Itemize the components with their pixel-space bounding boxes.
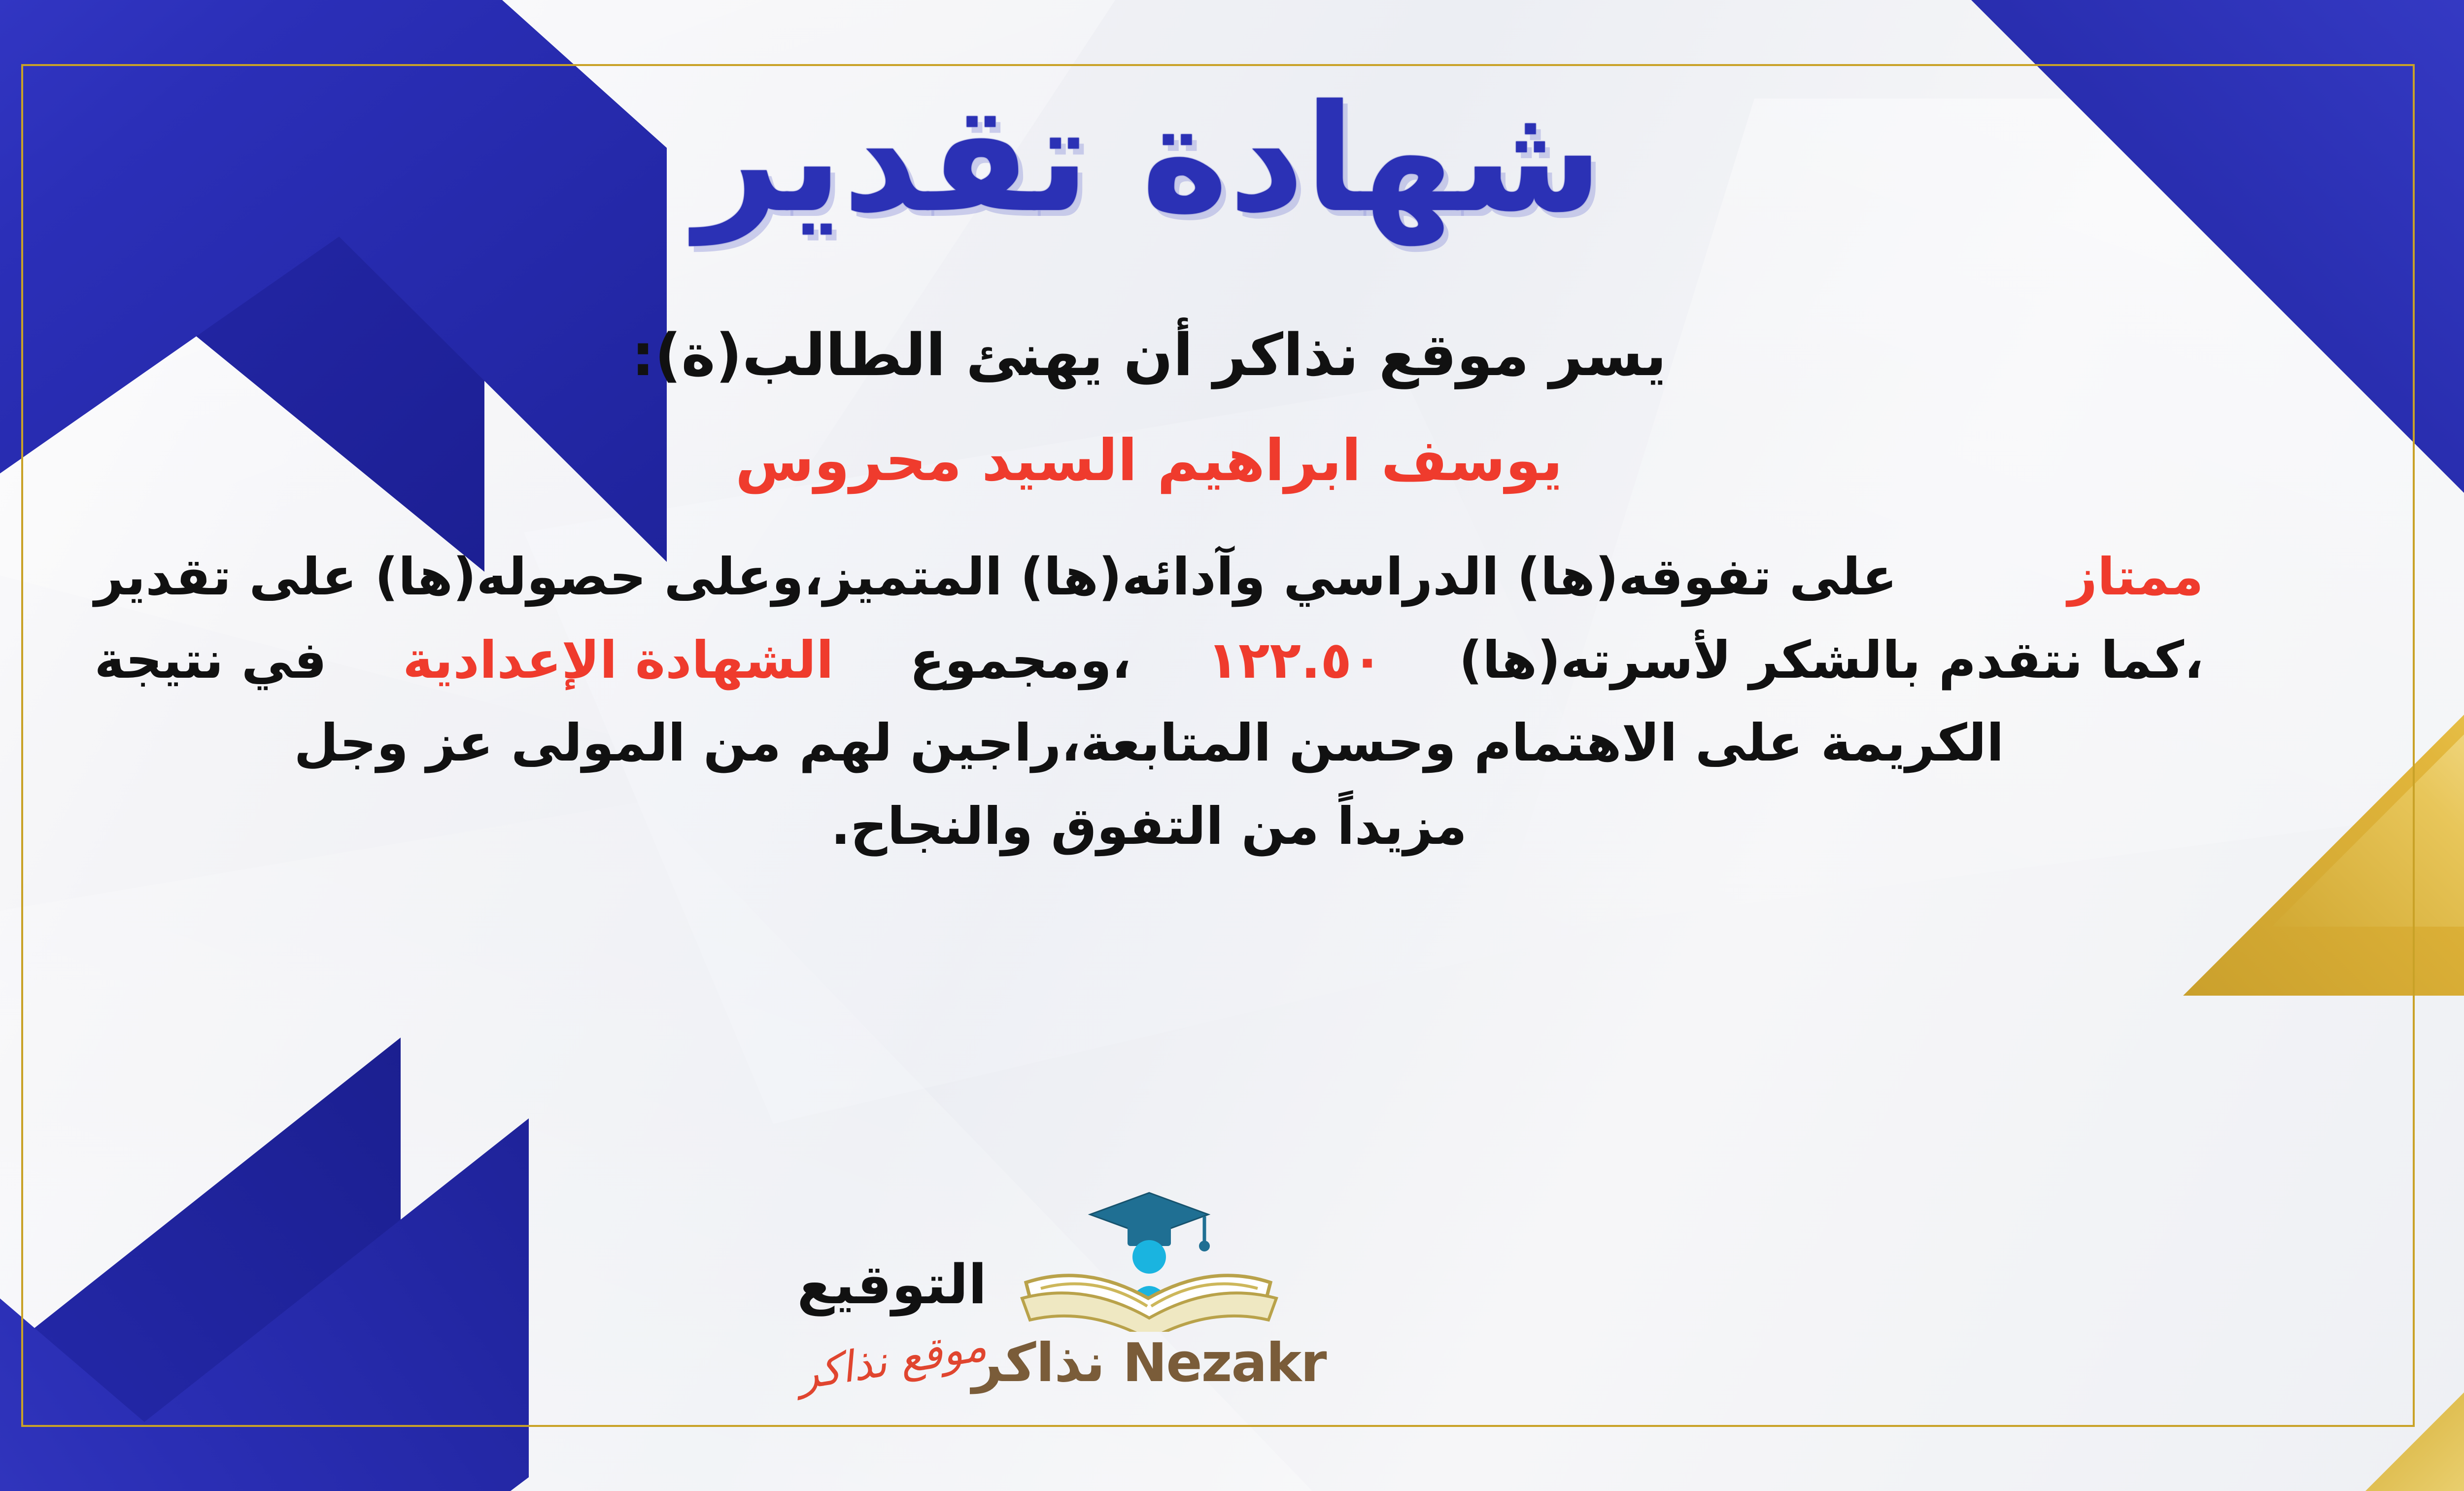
logo-latin: Nezakr — [1123, 1332, 1326, 1394]
paragraph-line-2: ،كما نتقدم بالشكر لأسرته(ها) ١٢٢.٥٠ ،ومج… — [95, 619, 2204, 701]
logo-arabic: نذاكر — [972, 1332, 1105, 1394]
paragraph-line-2-suffix: ،كما نتقدم بالشكر لأسرته(ها) — [1459, 619, 2204, 701]
paragraph-line-3: الكريمة على الاهتمام وحسن المتابعة،راجين… — [95, 701, 2204, 784]
paragraph-line-2-prefix: في نتيجة — [95, 619, 327, 701]
certificate-body: يسر موقع نذاكر أن يهنئ الطالب(ة): يوسف ا… — [65, 313, 2233, 867]
greeting-line: يسر موقع نذاكر أن يهنئ الطالب(ة): — [65, 313, 2233, 397]
exam-name: الشهادة الإعدادية — [403, 619, 834, 701]
certificate-title: شهادة تقدير — [695, 74, 1603, 244]
achievement-paragraph: ممتاز على تفوقه(ها) الدراسي وآدائه(ها) ا… — [65, 535, 2233, 867]
total-score: ١٢٢.٥٠ — [1207, 619, 1383, 701]
site-logo: Nezakr نذاكر — [927, 1184, 1371, 1390]
graduation-book-icon — [1011, 1184, 1287, 1332]
logo-wordmark: Nezakr نذاكر — [927, 1337, 1371, 1390]
student-name: يوسف ابراهيم السيد محروس — [65, 421, 2233, 501]
paragraph-line-1: ممتاز على تفوقه(ها) الدراسي وآدائه(ها) ا… — [95, 535, 2204, 618]
grade-value: ممتاز — [2068, 535, 2204, 618]
paragraph-line-1-text: على تفوقه(ها) الدراسي وآدائه(ها) المتميز… — [95, 535, 1897, 618]
paragraph-line-4: مزيداً من التفوق والنجاح. — [95, 785, 2204, 867]
paragraph-line-2-mid: ،ومجموع — [910, 619, 1131, 701]
certificate-canvas: شهادة تقدير يسر موقع نذاكر أن يهنئ الطال… — [0, 0, 2464, 1491]
certificate-content: شهادة تقدير يسر موقع نذاكر أن يهنئ الطال… — [0, 0, 2464, 1491]
